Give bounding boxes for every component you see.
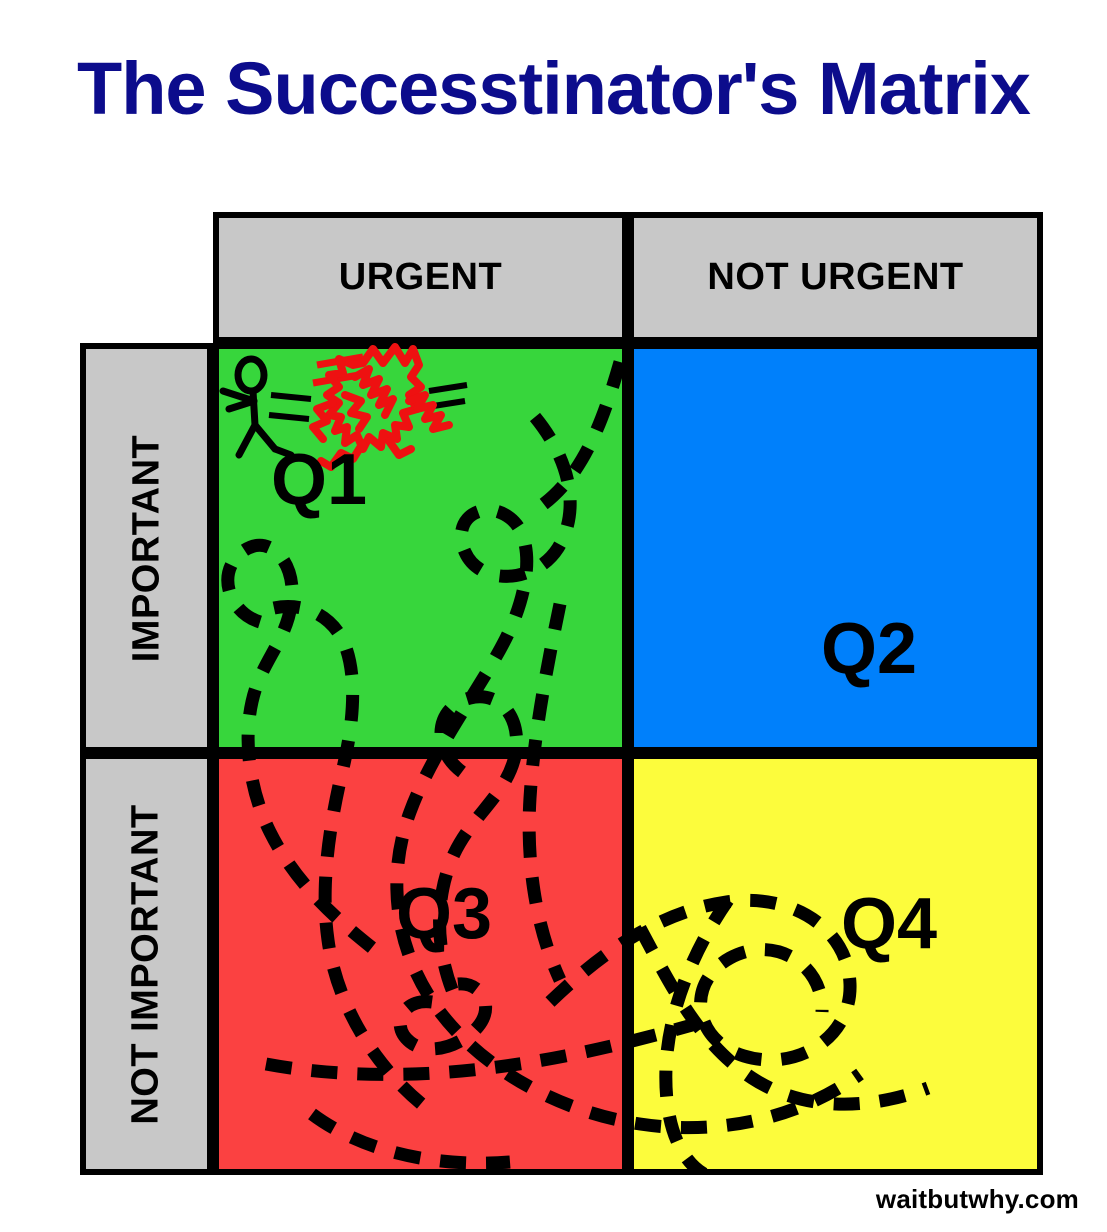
quadrant-q4-label: Q4 — [841, 888, 937, 960]
quadrant-q4: Q4 — [628, 753, 1043, 1175]
column-header-not-urgent: NOT URGENT — [628, 212, 1043, 343]
row-header-not-important-label: NOT IMPORTANT — [125, 804, 168, 1124]
row-header-important-label: IMPORTANT — [125, 434, 168, 662]
quadrant-q1-label: Q1 — [271, 444, 367, 516]
row-header-important: IMPORTANT — [80, 343, 213, 753]
quadrant-q2-label: Q2 — [821, 613, 917, 685]
site-credit: waitbutwhy.com — [876, 1184, 1079, 1215]
quadrant-q1: Q1 — [213, 343, 628, 753]
quadrant-q3-label: Q3 — [396, 878, 492, 950]
column-header-urgent: URGENT — [213, 212, 628, 343]
quadrant-q3: Q3 — [213, 753, 628, 1175]
quadrant-q2: Q2 — [628, 343, 1043, 753]
matrix-poster: The Successtinator's Matrix URGENT NOT U… — [0, 0, 1107, 1232]
row-header-not-important: NOT IMPORTANT — [80, 753, 213, 1175]
column-header-not-urgent-label: NOT URGENT — [707, 256, 963, 299]
page-title: The Successtinator's Matrix — [0, 52, 1107, 126]
column-header-urgent-label: URGENT — [339, 256, 502, 299]
eisenhower-matrix: URGENT NOT URGENT IMPORTANT NOT IMPORTAN… — [80, 212, 1043, 1175]
